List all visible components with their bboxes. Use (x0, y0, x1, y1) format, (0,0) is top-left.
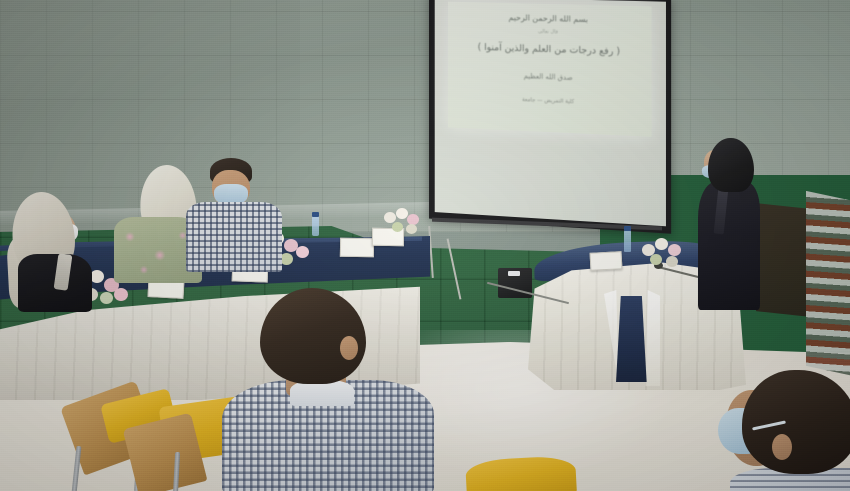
projected-slide: بسم الله الرحمن الرحيم قال تعالى ( رفع د… (448, 2, 652, 137)
panelist-3 (186, 158, 282, 270)
blazer (698, 182, 760, 310)
panelist-1 (6, 192, 102, 310)
ear (340, 336, 358, 360)
name-card (340, 238, 374, 258)
slide-line-3: ( رفع درجات من العلم والذين آمنوا ) (478, 43, 621, 58)
projection-screen: بسم الله الرحمن الرحيم قال تعالى ( رفع د… (429, 0, 671, 234)
slide-line-4: صدق الله العظيم (524, 72, 573, 82)
wall-louvre-panel (806, 191, 850, 376)
hijab (708, 138, 754, 192)
flower-arrangement (382, 206, 428, 240)
slide-line-2: قال تعالى (538, 30, 558, 36)
name-card (590, 251, 623, 271)
audience-1 (216, 288, 446, 491)
water-bottle (624, 230, 631, 252)
ear (772, 434, 792, 460)
checkered-shirt (186, 202, 282, 272)
slide-line-1: بسم الله الرحمن الرحيم (509, 13, 588, 24)
lecture-chair (466, 452, 586, 491)
water-bottle-cap (624, 226, 631, 231)
audience-2 (700, 368, 850, 491)
speaker (694, 138, 766, 308)
hair (742, 370, 850, 474)
slide-line-5: كلية التمريض — جامعة (522, 97, 574, 105)
flower-arrangement (640, 236, 690, 272)
conference-room-photo: بسم الله الرحمن الرحيم قال تعالى ( رفع د… (0, 0, 850, 491)
water-bottle-cap (312, 212, 319, 217)
equipment-indicator (508, 271, 520, 276)
